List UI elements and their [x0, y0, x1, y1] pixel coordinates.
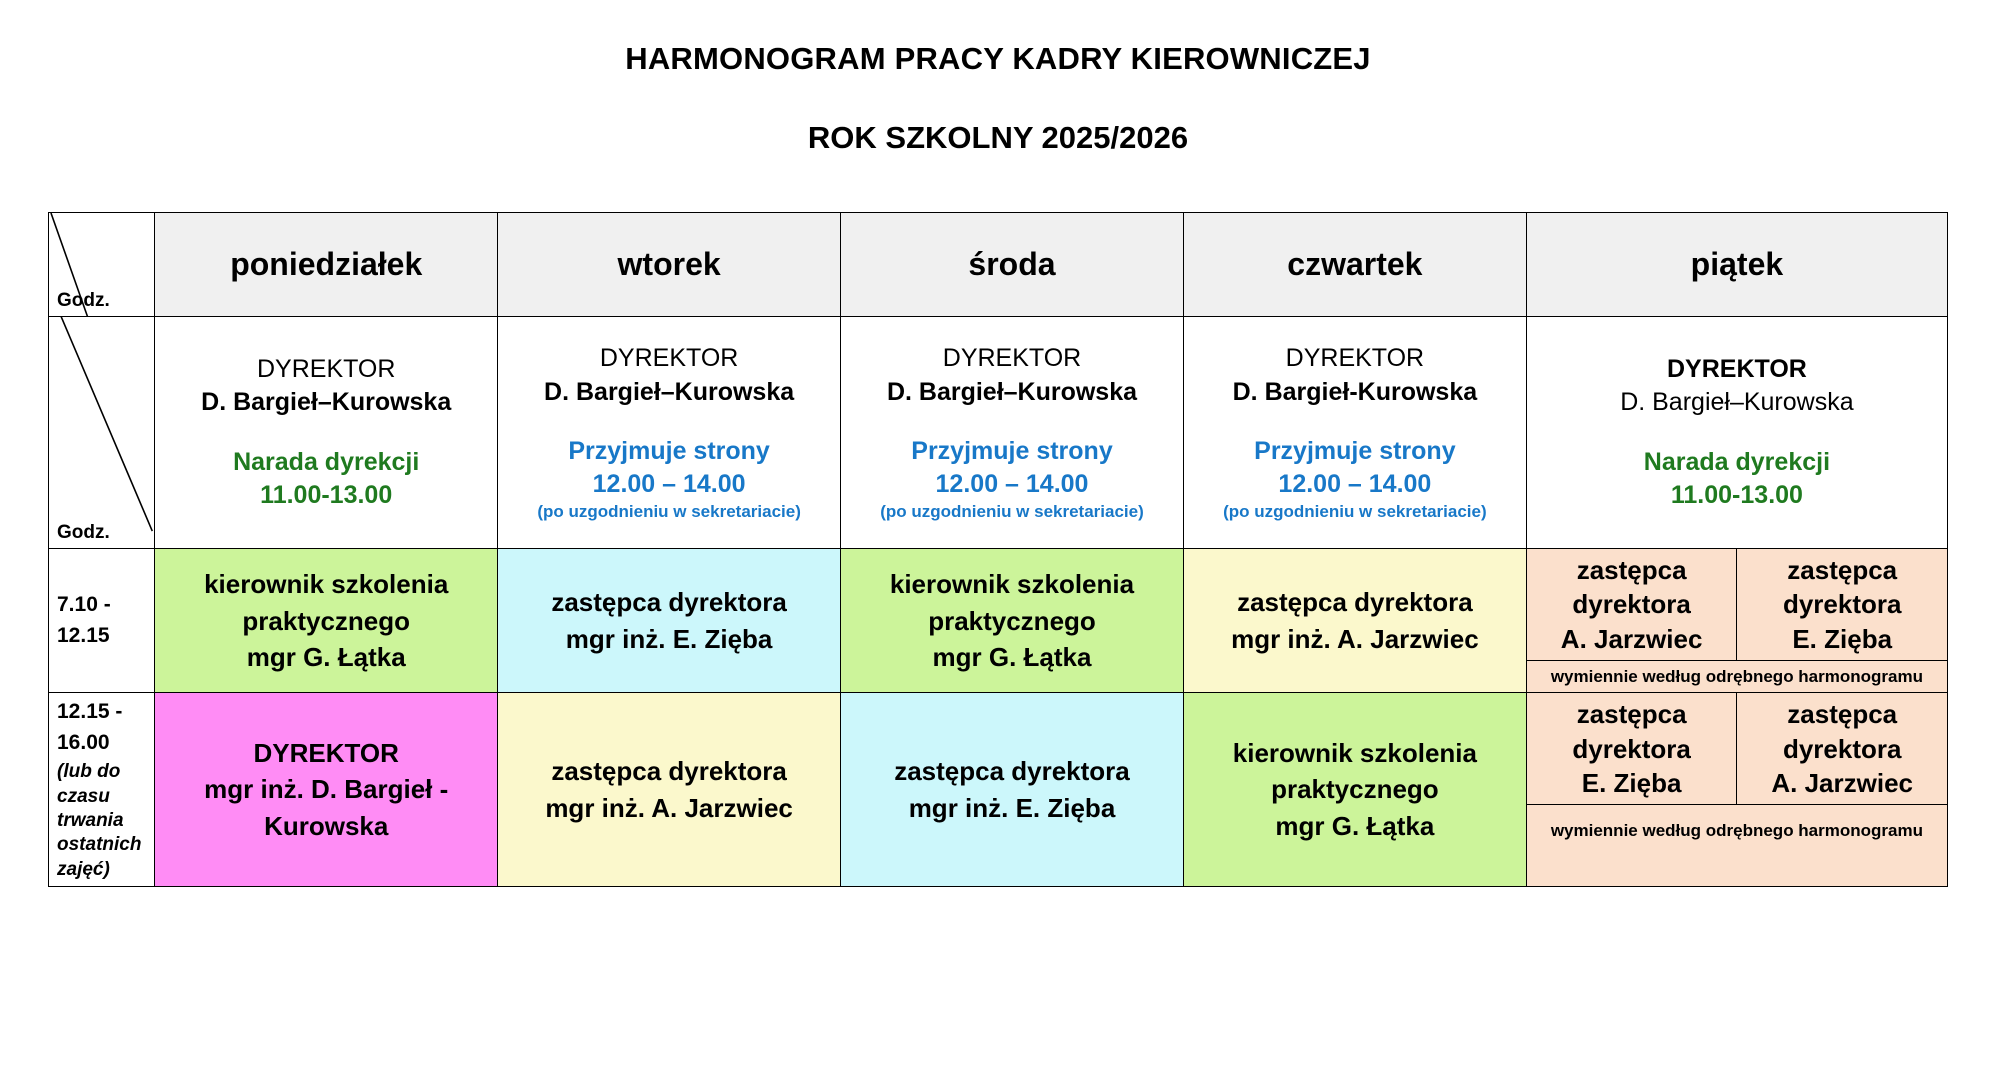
slot-line2: mgr inż. E. Zięba [504, 621, 834, 657]
page-subtitle: ROK SZKOLNY 2025/2026 [0, 121, 1996, 155]
friday-split-row: zastępca dyrektora E. Zięba zastępca dyr… [1527, 693, 1947, 804]
director-role: DYREKTOR [1190, 342, 1520, 376]
hours-column-label: Godz. [57, 290, 110, 312]
slot-tuesday-afternoon: zastępca dyrektora mgr inż. A. Jarzwiec [498, 693, 841, 886]
slot-line1: zastępca [1531, 697, 1733, 731]
director-cell-wednesday: DYREKTOR D. Bargieł–Kurowska Przyjmuje s… [841, 317, 1184, 549]
time-line2: 12.15 [57, 621, 148, 651]
director-note-line2: 11.00-13.00 [1533, 479, 1941, 513]
corner-spacer-cell: Godz. [49, 317, 155, 549]
slot-line3: mgr G. Łątka [847, 639, 1177, 675]
slot-thursday-afternoon: kierownik szkolenia praktycznego mgr G. … [1183, 693, 1526, 886]
director-role: DYREKTOR [1533, 353, 1941, 387]
slot-line1: kierownik szkolenia [161, 566, 491, 602]
director-note-small: (po uzgodnieniu w sekretariacie) [847, 502, 1177, 522]
slot-line1: zastępca [1741, 697, 1943, 731]
time-line1: 7.10 - [57, 590, 148, 620]
slot-line1: zastępca dyrektora [504, 753, 834, 789]
slot-friday-afternoon: zastępca dyrektora E. Zięba zastępca dyr… [1526, 693, 1947, 886]
director-note-line2: 12.00 – 14.00 [847, 468, 1177, 501]
slot-monday-morning: kierownik szkolenia praktycznego mgr G. … [155, 549, 498, 693]
slot-monday-afternoon: DYREKTOR mgr inż. D. Bargieł - Kurowska [155, 693, 498, 886]
director-note-line2: 12.00 – 14.00 [1190, 468, 1520, 501]
slot-wednesday-afternoon: zastępca dyrektora mgr inż. E. Zięba [841, 693, 1184, 886]
slot-line2: dyrektora [1531, 587, 1733, 621]
schedule-page: HARMONOGRAM PRACY KADRY KIEROWNICZEJ ROK… [0, 0, 1996, 1070]
time-line1: 12.15 - [57, 697, 148, 727]
director-name: D. Bargieł–Kurowska [1533, 386, 1941, 420]
friday-note-row: wymiennie według odrębnego harmonogramu [1527, 805, 1947, 857]
day-header-wednesday: środa [841, 213, 1184, 317]
corner-header-cell: Godz. [49, 213, 155, 317]
time-label-afternoon: 12.15 - 16.00 (lub do czasu trwania osta… [49, 693, 155, 886]
slot-line2: mgr inż. D. Bargieł - [161, 771, 491, 807]
director-role: DYREKTOR [847, 342, 1177, 376]
slot-line3: Kurowska [161, 808, 491, 844]
schedule-row-afternoon: 12.15 - 16.00 (lub do czasu trwania osta… [49, 693, 1948, 886]
slot-tuesday-morning: zastępca dyrektora mgr inż. E. Zięba [498, 549, 841, 693]
slot-thursday-morning: zastępca dyrektora mgr inż. A. Jarzwiec [1183, 549, 1526, 693]
slot-line3: A. Jarzwiec [1741, 766, 1943, 800]
director-note-line2: 11.00-13.00 [161, 479, 491, 513]
diagonal-divider-lower-icon [49, 317, 154, 548]
slot-line1: zastępca dyrektora [1190, 584, 1520, 620]
day-header-tuesday: wtorek [498, 213, 841, 317]
slot-line2: dyrektora [1531, 732, 1733, 766]
schedule-row-morning: 7.10 - 12.15 kierownik szkolenia praktyc… [49, 549, 1948, 693]
slot-line2: praktycznego [1190, 771, 1520, 807]
page-title: HARMONOGRAM PRACY KADRY KIEROWNICZEJ [0, 42, 1996, 76]
friday-right-morning: zastępca dyrektora E. Zięba [1737, 549, 1947, 660]
schedule-table-wrap: Godz. poniedziałek wtorek środa czwartek… [48, 212, 1948, 887]
director-role: DYREKTOR [504, 342, 834, 376]
spacer [1190, 409, 1520, 435]
slot-line2: mgr inż. A. Jarzwiec [1190, 621, 1520, 657]
friday-split-table-morning: zastępca dyrektora A. Jarzwiec zastępca … [1527, 549, 1947, 692]
spacer [504, 409, 834, 435]
slot-line1: zastępca [1531, 553, 1733, 587]
director-name: D. Bargieł-Kurowska [1190, 376, 1520, 410]
time-label-morning: 7.10 - 12.15 [49, 549, 155, 693]
slot-line1: kierownik szkolenia [1190, 735, 1520, 771]
friday-right-afternoon: zastępca dyrektora A. Jarzwiec [1737, 693, 1947, 804]
director-note-line1: Narada dyrekcji [1533, 446, 1941, 480]
director-cell-monday: DYREKTOR D. Bargieł–Kurowska Narada dyre… [155, 317, 498, 549]
director-name: D. Bargieł–Kurowska [504, 376, 834, 410]
spacer [847, 409, 1177, 435]
slot-line3: mgr G. Łątka [161, 639, 491, 675]
director-row: Godz. DYREKTOR D. Bargieł–Kurowska Narad… [49, 317, 1948, 549]
slot-line2: praktycznego [161, 603, 491, 639]
day-header-thursday: czwartek [1183, 213, 1526, 317]
slot-friday-morning: zastępca dyrektora A. Jarzwiec zastępca … [1526, 549, 1947, 693]
day-header-monday: poniedziałek [155, 213, 498, 317]
slot-line2: dyrektora [1741, 732, 1943, 766]
slot-line2: dyrektora [1741, 587, 1943, 621]
director-note-small: (po uzgodnieniu w sekretariacie) [1190, 502, 1520, 522]
title-block: HARMONOGRAM PRACY KADRY KIEROWNICZEJ ROK… [0, 0, 1996, 155]
slot-line1: DYREKTOR [161, 735, 491, 771]
day-header-friday: piątek [1526, 213, 1947, 317]
slot-line1: zastępca [1741, 553, 1943, 587]
director-note-line2: 12.00 – 14.00 [504, 468, 834, 501]
slot-line3: E. Zięba [1741, 622, 1943, 656]
director-name: D. Bargieł–Kurowska [847, 376, 1177, 410]
slot-line2: mgr inż. E. Zięba [847, 790, 1177, 826]
time-note: (lub do czasu trwania ostatnich zajęć) [57, 760, 148, 882]
spacer [161, 420, 491, 446]
director-name: D. Bargieł–Kurowska [161, 386, 491, 420]
director-cell-friday: DYREKTOR D. Bargieł–Kurowska Narada dyre… [1526, 317, 1947, 549]
slot-wednesday-morning: kierownik szkolenia praktycznego mgr G. … [841, 549, 1184, 693]
friday-note-row: wymiennie według odrębnego harmonogramu [1527, 660, 1947, 692]
director-role: DYREKTOR [161, 353, 491, 387]
slot-line1: kierownik szkolenia [847, 566, 1177, 602]
director-note-small: (po uzgodnieniu w sekretariacie) [504, 502, 834, 522]
time-line2: 16.00 [57, 728, 148, 758]
slot-line2: praktycznego [847, 603, 1177, 639]
director-note-line1: Przyjmuje strony [1190, 435, 1520, 468]
friday-split-table-afternoon: zastępca dyrektora E. Zięba zastępca dyr… [1527, 693, 1947, 856]
slot-line3: mgr G. Łątka [1190, 808, 1520, 844]
schedule-table: Godz. poniedziałek wtorek środa czwartek… [48, 212, 1948, 887]
hours-label-repeat: Godz. [57, 522, 110, 544]
friday-left-morning: zastępca dyrektora A. Jarzwiec [1527, 549, 1737, 660]
friday-split-row: zastępca dyrektora A. Jarzwiec zastępca … [1527, 549, 1947, 660]
slot-line3: E. Zięba [1531, 766, 1733, 800]
slot-line3: A. Jarzwiec [1531, 622, 1733, 656]
director-cell-thursday: DYREKTOR D. Bargieł-Kurowska Przyjmuje s… [1183, 317, 1526, 549]
director-note-line1: Narada dyrekcji [161, 446, 491, 480]
slot-line1: zastępca dyrektora [504, 584, 834, 620]
director-cell-tuesday: DYREKTOR D. Bargieł–Kurowska Przyjmuje s… [498, 317, 841, 549]
spacer [1533, 420, 1941, 446]
director-note-line1: Przyjmuje strony [504, 435, 834, 468]
slot-line1: zastępca dyrektora [847, 753, 1177, 789]
friday-left-afternoon: zastępca dyrektora E. Zięba [1527, 693, 1737, 804]
friday-note-morning: wymiennie według odrębnego harmonogramu [1527, 660, 1947, 692]
director-note-line1: Przyjmuje strony [847, 435, 1177, 468]
friday-note-afternoon: wymiennie według odrębnego harmonogramu [1527, 805, 1947, 857]
slot-line2: mgr inż. A. Jarzwiec [504, 790, 834, 826]
table-header-row: Godz. poniedziałek wtorek środa czwartek… [49, 213, 1948, 317]
